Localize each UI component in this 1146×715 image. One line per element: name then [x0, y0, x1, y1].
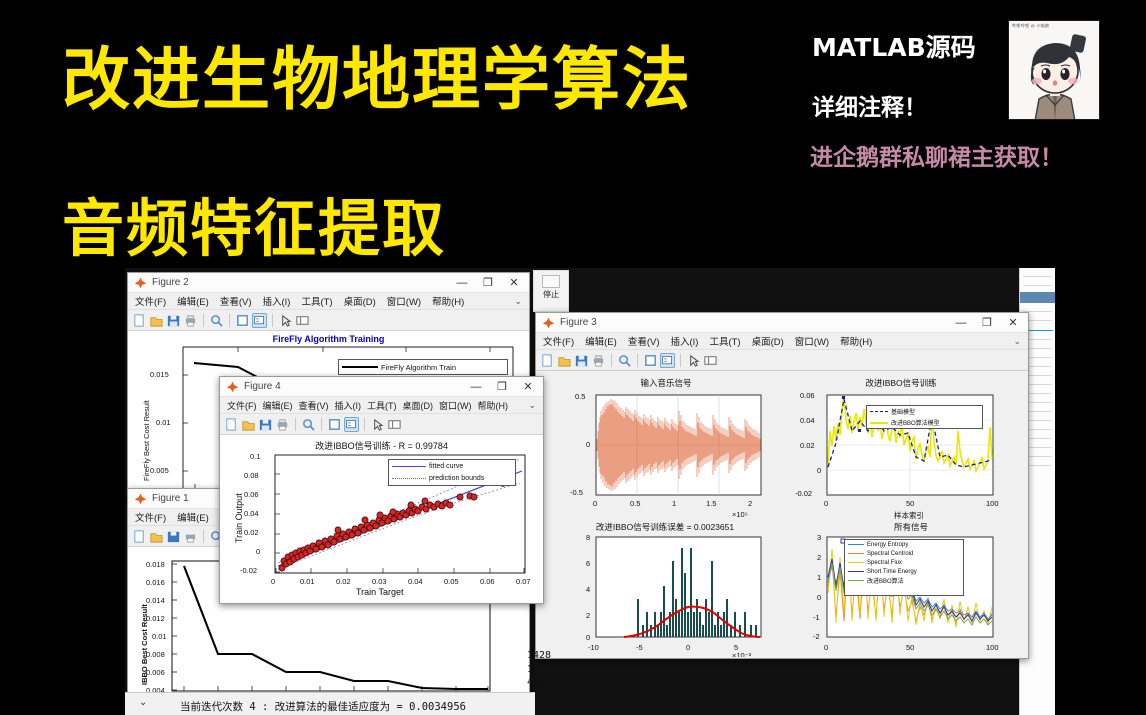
- save-icon[interactable]: [258, 417, 273, 432]
- close-button[interactable]: ✕: [1000, 313, 1026, 332]
- mascot-avatar: 哔哩哔哩 @ 小喵娘: [1008, 20, 1100, 120]
- menu-insert[interactable]: 插入(I): [335, 399, 362, 412]
- insert-legend-icon[interactable]: [344, 417, 359, 432]
- hide-plot-tools-icon[interactable]: [295, 313, 310, 328]
- figure-3-plot-canvas: 输入音乐信号 0.5 0 -0.5 0 0.5 1 1.5 2 ×10⁵: [536, 371, 1028, 657]
- menu-desktop[interactable]: 桌面(D): [403, 399, 434, 412]
- save-icon[interactable]: [166, 529, 181, 544]
- console-iteration-line: 当前迭代次数 4 : 改进算法的最佳适应度为 = 0.0034956: [180, 699, 466, 714]
- figure-3-menubar[interactable]: 文件(F) 编辑(E) 查看(V) 插入(I) 工具(T) 桌面(D) 窗口(W…: [536, 333, 1028, 350]
- insert-colorbar-icon[interactable]: [643, 353, 658, 368]
- zoom-tool-icon[interactable]: [617, 353, 632, 368]
- fig4-legend: fitted curve prediction bounds: [388, 459, 516, 486]
- figure-4-titlebar[interactable]: Figure 4 — ❐ ✕: [220, 377, 543, 397]
- legend-line-spectral-flux-icon: [848, 562, 864, 563]
- menu-overflow-icon[interactable]: ⌄: [528, 400, 536, 411]
- menu-overflow-icon[interactable]: ⌄: [1013, 336, 1021, 347]
- menu-edit[interactable]: 编辑(E): [585, 334, 617, 348]
- command-window-output: 1428 142 465 1956: [527, 649, 947, 703]
- menu-file[interactable]: 文件(F): [135, 294, 166, 308]
- fig2-legend-line-icon: [342, 366, 378, 368]
- menu-view[interactable]: 查看(V): [299, 399, 329, 412]
- zoom-tool-icon[interactable]: [209, 313, 224, 328]
- promo-banner: 改进生物地理学算法 音频特征提取 MATLAB源码 详细注释！ 进企鹅群私聊裙主…: [0, 0, 1146, 268]
- open-file-icon[interactable]: [149, 529, 164, 544]
- menu-edit[interactable]: 编辑(E): [263, 399, 293, 412]
- figure-4-window[interactable]: Figure 4 — ❐ ✕ 文件(F) 编辑(E) 查看(V) 插入(I) 工…: [219, 376, 544, 604]
- insert-colorbar-icon[interactable]: [235, 313, 250, 328]
- expand-chevron-icon[interactable]: ⌄: [139, 697, 147, 708]
- figure-4-plot-canvas: 改进IBBO信号训练 - R = 0.99784 0.1 0.08 0.06 0…: [220, 435, 543, 603]
- menu-window[interactable]: 窗口(W): [439, 399, 472, 412]
- menu-insert[interactable]: 插入(I): [262, 294, 290, 308]
- maximize-button[interactable]: ❐: [475, 273, 501, 292]
- fig3-chart4-svg: [536, 371, 1028, 657]
- pointer-tool-icon[interactable]: [370, 417, 385, 432]
- menu-window[interactable]: 窗口(W): [795, 334, 829, 348]
- maximize-button[interactable]: ❐: [489, 377, 515, 396]
- banner-title-line1: 改进生物地理学算法: [62, 24, 692, 123]
- fig3-chart4-legend-label-0: Energy Entropy: [867, 542, 908, 548]
- print-icon[interactable]: [275, 417, 290, 432]
- menu-help[interactable]: 帮助(H): [478, 399, 509, 412]
- menu-file[interactable]: 文件(F): [227, 399, 257, 412]
- zoom-tool-icon[interactable]: [301, 417, 316, 432]
- fig3-chart4-legend: Energy Entropy Spectral Centroid Spectra…: [844, 539, 964, 596]
- pointer-tool-icon[interactable]: [278, 313, 293, 328]
- pointer-tool-icon[interactable]: [686, 353, 701, 368]
- mascot-watermark: 哔哩哔哩 @ 小喵娘: [1012, 23, 1049, 29]
- fig3-chart4-legend-label-4: 改进BBO算法: [867, 576, 904, 585]
- matlab-logo-icon: [134, 492, 147, 505]
- figure-2-toolbar[interactable]: [128, 310, 529, 331]
- save-icon[interactable]: [574, 353, 589, 368]
- menu-insert[interactable]: 插入(I): [670, 334, 698, 348]
- fig2-legend-label: FireFly Algorithm Train: [381, 363, 456, 372]
- menu-view[interactable]: 查看(V): [220, 294, 252, 308]
- fig4-legend-label-1: prediction bounds: [429, 475, 484, 482]
- stop-square-icon: [542, 275, 560, 288]
- mascot-illustration-icon: [1009, 21, 1100, 120]
- legend-line-improved-bbo-algorithm-icon: [848, 580, 864, 581]
- matlab-logo-icon: [542, 316, 555, 329]
- menu-tools[interactable]: 工具(T): [709, 334, 740, 348]
- figure-4-toolbar[interactable]: [220, 414, 543, 435]
- figure-2-title: Figure 2: [152, 277, 449, 288]
- open-file-icon[interactable]: [149, 313, 164, 328]
- menu-file[interactable]: 文件(F): [543, 334, 574, 348]
- insert-colorbar-icon[interactable]: [327, 417, 342, 432]
- menu-overflow-icon[interactable]: ⌄: [514, 296, 522, 307]
- close-button[interactable]: ✕: [501, 273, 527, 292]
- figure-4-menubar[interactable]: 文件(F) 编辑(E) 查看(V) 插入(I) 工具(T) 桌面(D) 窗口(W…: [220, 397, 543, 414]
- fig3-chart4-legend-label-3: Short Time Energy: [867, 569, 917, 575]
- promo-text-contact: 进企鹅群私聊裙主获取！: [810, 138, 1063, 172]
- menu-help[interactable]: 帮助(H): [432, 294, 464, 308]
- legend-line-fitted-curve-icon: [392, 466, 426, 467]
- figure-4-title: Figure 4: [244, 381, 463, 392]
- open-file-icon[interactable]: [241, 417, 256, 432]
- console-line-3: 1956: [527, 690, 947, 704]
- menu-edit[interactable]: 编辑(E): [177, 294, 209, 308]
- save-icon[interactable]: [166, 313, 181, 328]
- menu-help[interactable]: 帮助(H): [840, 334, 872, 348]
- legend-line-prediction-bounds-icon: [392, 478, 426, 479]
- close-button[interactable]: ✕: [515, 377, 541, 396]
- fig4-legend-label-0: fitted curve: [429, 463, 463, 470]
- fig3-chart4-legend-label-2: Spectral Flux: [867, 560, 902, 566]
- fig2-legend: FireFly Algorithm Train: [338, 359, 508, 375]
- console-line-2: 465: [527, 676, 947, 690]
- legend-line-spectral-centroid-icon: [848, 553, 864, 554]
- hide-plot-tools-icon[interactable]: [387, 417, 402, 432]
- new-figure-icon[interactable]: [540, 353, 555, 368]
- figure-2-titlebar[interactable]: Figure 2 — ❐ ✕: [128, 273, 529, 293]
- figure-3-title: Figure 3: [560, 317, 948, 328]
- new-figure-icon[interactable]: [224, 417, 239, 432]
- console-line-0: 1428: [527, 649, 947, 663]
- minimize-button[interactable]: —: [463, 377, 489, 396]
- print-icon[interactable]: [183, 529, 198, 544]
- promo-text-source: MATLAB源码: [812, 28, 976, 64]
- legend-line-energy-entropy-icon: [848, 544, 864, 545]
- menu-desktop[interactable]: 桌面(D): [752, 334, 784, 348]
- new-figure-icon[interactable]: [132, 529, 147, 544]
- editor-highlight-row: [1020, 292, 1055, 303]
- print-icon[interactable]: [591, 353, 606, 368]
- promo-text-comments: 详细注释！: [812, 88, 927, 122]
- legend-line-short-time-energy-icon: [848, 571, 864, 572]
- console-line-1: 142: [527, 663, 947, 677]
- figure-3-window[interactable]: Figure 3 — ❐ ✕ 文件(F) 编辑(E) 查看(V) 插入(I) 工…: [535, 312, 1029, 659]
- menu-edit[interactable]: 编辑(E): [177, 510, 209, 524]
- insert-legend-icon[interactable]: [252, 313, 267, 328]
- print-icon[interactable]: [183, 313, 198, 328]
- new-figure-icon[interactable]: [132, 313, 147, 328]
- menu-file[interactable]: 文件(F): [135, 510, 166, 524]
- stop-button-label: 停止: [534, 289, 568, 300]
- menu-window[interactable]: 窗口(W): [387, 294, 421, 308]
- figure-3-toolbar[interactable]: [536, 350, 1028, 371]
- banner-title-line2: 音频特征提取: [62, 178, 446, 268]
- menu-tools[interactable]: 工具(T): [367, 399, 397, 412]
- minimize-button[interactable]: —: [948, 313, 974, 332]
- stop-button-panel[interactable]: 停止: [533, 270, 569, 312]
- fig3-chart4-legend-label-1: Spectral Centroid: [867, 551, 913, 557]
- matlab-logo-icon: [226, 380, 239, 393]
- open-file-icon[interactable]: [557, 353, 572, 368]
- minimize-button[interactable]: —: [449, 273, 475, 292]
- hide-plot-tools-icon[interactable]: [703, 353, 718, 368]
- matlab-logo-icon: [134, 276, 147, 289]
- menu-tools[interactable]: 工具(T): [301, 294, 332, 308]
- figure-3-titlebar[interactable]: Figure 3 — ❐ ✕: [536, 313, 1028, 333]
- menu-desktop[interactable]: 桌面(D): [344, 294, 376, 308]
- figure-2-menubar[interactable]: 文件(F) 编辑(E) 查看(V) 插入(I) 工具(T) 桌面(D) 窗口(W…: [128, 293, 529, 310]
- maximize-button[interactable]: ❐: [974, 313, 1000, 332]
- menu-view[interactable]: 查看(V): [628, 334, 660, 348]
- insert-legend-icon[interactable]: [660, 353, 675, 368]
